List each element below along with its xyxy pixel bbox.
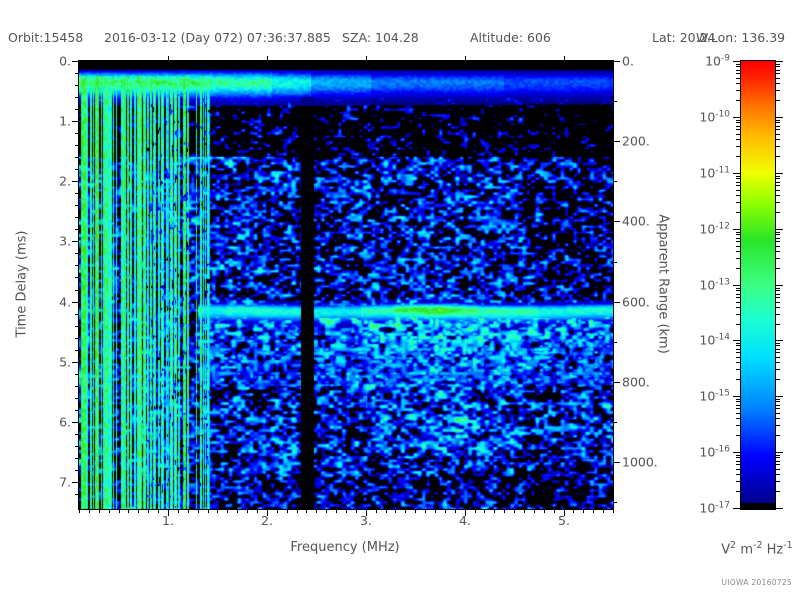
colorbar-tick-minor xyxy=(736,343,741,344)
colorbar-tick-minor xyxy=(775,491,780,492)
y-right-tick-minor xyxy=(613,181,617,182)
colorbar-tick-minor xyxy=(775,126,780,127)
y-right-tick-major xyxy=(613,141,620,142)
colorbar-tick-minor xyxy=(775,418,780,419)
x-tick-minor xyxy=(494,509,495,513)
y-axis-right-title: Apparent Range (km) xyxy=(656,214,671,354)
colorbar-tick-minor xyxy=(775,345,780,346)
x-tick-minor xyxy=(504,509,505,513)
colorbar-tick-minor xyxy=(736,139,741,140)
y-left-tick-label: 7. xyxy=(59,475,71,490)
colorbar-tick-minor xyxy=(736,78,741,79)
colorbar-tick-minor xyxy=(736,379,741,380)
colorbar-tick-minor xyxy=(775,343,780,344)
colorbar-tick-minor xyxy=(736,307,741,308)
colorbar-tick-minor xyxy=(775,401,780,402)
colorbar-tick-minor xyxy=(775,399,780,400)
colorbar-tick-minor xyxy=(775,134,780,135)
y-left-tick-label: 6. xyxy=(59,415,71,430)
y-left-tick-label: 1. xyxy=(59,114,71,129)
colorbar-tick-minor xyxy=(775,176,780,177)
colorbar-tick-major xyxy=(775,173,783,174)
colorbar-tick-minor xyxy=(736,469,741,470)
colorbar-tick-minor xyxy=(736,182,741,183)
y-left-tick-minor xyxy=(75,398,79,399)
x-tick-minor xyxy=(475,509,476,513)
y-left-tick-minor xyxy=(75,169,79,170)
y-right-tick-label: 1000. xyxy=(622,455,658,470)
x-tick-minor xyxy=(109,509,110,513)
y-left-tick-minor xyxy=(75,85,79,86)
colorbar-tick-minor xyxy=(775,288,780,289)
colorbar-tick-minor xyxy=(775,178,780,179)
colorbar-tick-minor xyxy=(736,290,741,291)
colorbar-tick-minor xyxy=(775,362,780,363)
y-left-tick-major xyxy=(72,181,79,182)
header-datetime: 2016-03-12 (Day 072) 07:36:37.885 xyxy=(104,30,331,45)
colorbar-tick-major xyxy=(775,229,783,230)
colorbar-tick-label: 10-12 xyxy=(699,221,730,236)
colorbar-tick-minor xyxy=(775,307,780,308)
colorbar-tick-minor xyxy=(736,190,741,191)
colorbar-tick-minor xyxy=(775,202,780,203)
colorbar-tick-minor xyxy=(736,435,741,436)
footer-credit: UIOWA 20160725 xyxy=(722,578,793,587)
colorbar-tick-minor xyxy=(736,251,741,252)
y-left-tick-minor xyxy=(75,193,79,194)
y-right-tick-label: 800. xyxy=(622,375,650,390)
colorbar-tick-minor xyxy=(775,90,780,91)
colorbar-tick-minor xyxy=(736,314,741,315)
colorbar-tick-minor xyxy=(736,457,741,458)
x-tick-minor xyxy=(208,509,209,513)
colorbar-gradient xyxy=(741,61,775,509)
x-tick-minor xyxy=(79,509,80,513)
x-tick-top xyxy=(465,56,466,61)
colorbar: 10-910-1010-1110-1210-1310-1410-1510-161… xyxy=(740,60,776,510)
x-tick-minor xyxy=(395,509,396,513)
y-left-tick-major xyxy=(72,121,79,122)
colorbar-tick-minor xyxy=(775,435,780,436)
y-left-tick-minor xyxy=(75,458,79,459)
x-tick-minor xyxy=(544,509,545,513)
colorbar-tick-minor xyxy=(775,461,780,462)
colorbar-tick-minor xyxy=(775,78,780,79)
colorbar-tick-minor xyxy=(736,120,741,121)
y-right-tick-major xyxy=(613,302,620,303)
y-left-tick-minor xyxy=(75,290,79,291)
y-left-tick-major xyxy=(72,61,79,62)
colorbar-tick-minor xyxy=(736,195,741,196)
x-tick-minor xyxy=(128,509,129,513)
colorbar-tick-minor xyxy=(775,302,780,303)
colorbar-tick-minor xyxy=(736,202,741,203)
colorbar-tick-minor xyxy=(775,455,780,456)
x-tick-minor xyxy=(534,509,535,513)
y-left-tick-minor xyxy=(75,494,79,495)
x-tick-minor xyxy=(455,509,456,513)
colorbar-tick-minor xyxy=(775,195,780,196)
y-left-tick-major xyxy=(72,362,79,363)
colorbar-tick-minor xyxy=(736,178,741,179)
colorbar-tick-minor xyxy=(736,408,741,409)
colorbar-tick-minor xyxy=(736,73,741,74)
colorbar-tick-minor xyxy=(736,129,741,130)
y-left-tick-label: 3. xyxy=(59,234,71,249)
x-tick-minor xyxy=(138,509,139,513)
colorbar-tick-minor xyxy=(775,349,780,350)
x-tick-minor xyxy=(524,509,525,513)
x-tick-minor xyxy=(148,509,149,513)
colorbar-tick-minor xyxy=(736,302,741,303)
colorbar-tick-minor xyxy=(775,294,780,295)
colorbar-tick-minor xyxy=(736,369,741,370)
colorbar-tick-label: 10-9 xyxy=(705,53,730,68)
colorbar-tick-minor xyxy=(736,349,741,350)
colorbar-tick-minor xyxy=(736,246,741,247)
colorbar-tick-minor xyxy=(775,379,780,380)
colorbar-tick-minor xyxy=(775,64,780,65)
colorbar-tick-label: 10-11 xyxy=(699,165,730,180)
y-right-tick-minor xyxy=(613,101,617,102)
colorbar-tick-minor xyxy=(775,481,780,482)
x-tick-minor xyxy=(198,509,199,513)
colorbar-tick-minor xyxy=(775,120,780,121)
header-altitude: Altitude: 606 xyxy=(470,30,551,45)
y-right-tick-minor xyxy=(613,342,617,343)
colorbar-tick-minor xyxy=(736,362,741,363)
colorbar-tick-minor xyxy=(775,469,780,470)
colorbar-tick-minor xyxy=(736,238,741,239)
x-tick-minor xyxy=(573,509,574,513)
colorbar-tick-minor xyxy=(736,234,741,235)
y-right-tick-major xyxy=(613,382,620,383)
x-tick-minor xyxy=(386,509,387,513)
x-tick-top xyxy=(564,56,565,61)
y-left-tick-major xyxy=(72,422,79,423)
colorbar-tick-major xyxy=(733,229,741,230)
colorbar-tick-minor xyxy=(736,425,741,426)
y-left-tick-label: 2. xyxy=(59,174,71,189)
x-tick-minor xyxy=(99,509,100,513)
colorbar-tick-minor xyxy=(775,290,780,291)
y-left-tick-minor xyxy=(75,374,79,375)
colorbar-tick-major xyxy=(775,285,783,286)
colorbar-tick-minor xyxy=(736,232,741,233)
colorbar-tick-minor xyxy=(736,288,741,289)
header-west-longitude: W.Lon: 136.39 xyxy=(696,30,785,45)
x-tick-label: 3. xyxy=(360,513,372,528)
colorbar-tick-major xyxy=(733,340,741,341)
colorbar-tick-minor xyxy=(736,241,741,242)
colorbar-unit-label: V2 m-2 Hz-1 xyxy=(721,540,792,557)
x-tick-minor xyxy=(178,509,179,513)
colorbar-tick-minor xyxy=(736,418,741,419)
colorbar-tick-minor xyxy=(736,146,741,147)
colorbar-tick-minor xyxy=(775,405,780,406)
x-tick-top xyxy=(267,56,268,61)
colorbar-tick-minor xyxy=(775,457,780,458)
header-sza: SZA: 104.28 xyxy=(342,30,419,45)
y-left-tick-minor xyxy=(75,229,79,230)
y-axis-left-title: Time Delay (ms) xyxy=(15,231,30,338)
x-tick-minor xyxy=(554,509,555,513)
colorbar-tick-minor xyxy=(736,324,741,325)
y-left-tick-minor xyxy=(75,145,79,146)
colorbar-tick-minor xyxy=(775,100,780,101)
colorbar-tick-label: 10-14 xyxy=(699,332,730,347)
colorbar-tick-minor xyxy=(775,474,780,475)
colorbar-tick-minor xyxy=(736,491,741,492)
colorbar-tick-minor xyxy=(775,314,780,315)
x-tick-minor xyxy=(593,509,594,513)
x-tick-minor xyxy=(346,509,347,513)
x-tick-minor xyxy=(376,509,377,513)
x-tick-minor xyxy=(613,509,614,513)
y-left-tick-minor xyxy=(75,97,79,98)
x-tick-minor xyxy=(257,509,258,513)
y-left-tick-minor xyxy=(75,386,79,387)
colorbar-tick-minor xyxy=(775,425,780,426)
x-tick-minor xyxy=(217,509,218,513)
colorbar-tick-minor xyxy=(775,70,780,71)
y-left-tick-minor xyxy=(75,470,79,471)
colorbar-tick-major xyxy=(733,452,741,453)
x-tick-minor xyxy=(514,509,515,513)
colorbar-tick-major xyxy=(775,452,783,453)
x-tick-minor xyxy=(316,509,317,513)
colorbar-tick-minor xyxy=(736,126,741,127)
x-tick-minor xyxy=(158,509,159,513)
colorbar-tick-minor xyxy=(736,100,741,101)
y-left-tick-minor xyxy=(75,326,79,327)
colorbar-tick-minor xyxy=(775,297,780,298)
colorbar-tick-label: 10-10 xyxy=(699,109,730,124)
y-left-tick-minor xyxy=(75,109,79,110)
colorbar-tick-minor xyxy=(775,369,780,370)
ionogram-page: Orbit:15458 2016-03-12 (Day 072) 07:36:3… xyxy=(0,0,800,600)
colorbar-tick-minor xyxy=(775,464,780,465)
y-right-tick-major xyxy=(613,61,620,62)
colorbar-tick-minor xyxy=(775,190,780,191)
colorbar-tick-minor xyxy=(775,185,780,186)
colorbar-tick-minor xyxy=(775,129,780,130)
colorbar-tick-minor xyxy=(736,134,741,135)
colorbar-tick-minor xyxy=(736,268,741,269)
y-right-tick-minor xyxy=(613,502,617,503)
x-tick-minor xyxy=(445,509,446,513)
x-tick-minor xyxy=(435,509,436,513)
colorbar-tick-minor xyxy=(736,70,741,71)
x-tick-minor xyxy=(89,509,90,513)
colorbar-tick-label: 10-16 xyxy=(699,444,730,459)
colorbar-tick-minor xyxy=(736,297,741,298)
y-right-tick-major xyxy=(613,221,620,222)
x-tick-label: 4. xyxy=(459,513,471,528)
x-tick-minor xyxy=(247,509,248,513)
x-tick-top xyxy=(366,56,367,61)
colorbar-tick-minor xyxy=(775,83,780,84)
colorbar-tick-label: 10-15 xyxy=(699,388,730,403)
y-left-tick-minor xyxy=(75,314,79,315)
colorbar-tick-minor xyxy=(775,238,780,239)
x-tick-minor xyxy=(326,509,327,513)
y-left-tick-minor xyxy=(75,253,79,254)
x-axis-title: Frequency (MHz) xyxy=(290,540,399,555)
x-tick-minor xyxy=(405,509,406,513)
colorbar-tick-minor xyxy=(736,294,741,295)
colorbar-tick-minor xyxy=(775,324,780,325)
colorbar-tick-major xyxy=(775,340,783,341)
x-tick-label: 2. xyxy=(261,513,273,528)
colorbar-tick-minor xyxy=(775,139,780,140)
y-right-tick-label: 400. xyxy=(622,214,650,229)
x-tick-minor xyxy=(297,509,298,513)
colorbar-tick-minor xyxy=(736,405,741,406)
colorbar-tick-major xyxy=(733,61,741,62)
colorbar-tick-minor xyxy=(736,461,741,462)
x-tick-minor xyxy=(119,509,120,513)
colorbar-tick-minor xyxy=(775,146,780,147)
y-right-tick-major xyxy=(613,462,620,463)
y-left-tick-major xyxy=(72,302,79,303)
colorbar-tick-minor xyxy=(775,352,780,353)
colorbar-tick-minor xyxy=(736,399,741,400)
x-tick-minor xyxy=(336,509,337,513)
spectrogram-canvas xyxy=(79,61,613,509)
y-left-tick-minor xyxy=(75,410,79,411)
colorbar-tick-minor xyxy=(736,474,741,475)
colorbar-tick-minor xyxy=(736,455,741,456)
colorbar-tick-minor xyxy=(775,232,780,233)
colorbar-tick-minor xyxy=(736,83,741,84)
colorbar-tick-minor xyxy=(775,258,780,259)
colorbar-tick-minor xyxy=(775,66,780,67)
colorbar-tick-minor xyxy=(736,481,741,482)
colorbar-tick-major xyxy=(775,61,783,62)
colorbar-tick-major xyxy=(733,285,741,286)
x-tick-minor xyxy=(583,509,584,513)
colorbar-tick-label: 10-17 xyxy=(699,500,730,515)
x-tick-label: 1. xyxy=(162,513,174,528)
colorbar-tick-minor xyxy=(775,241,780,242)
colorbar-tick-minor xyxy=(775,234,780,235)
colorbar-tick-major xyxy=(733,173,741,174)
colorbar-tick-minor xyxy=(736,185,741,186)
colorbar-tick-major xyxy=(733,396,741,397)
y-left-tick-minor xyxy=(75,133,79,134)
colorbar-tick-minor xyxy=(736,352,741,353)
colorbar-tick-major xyxy=(733,117,741,118)
x-tick-minor xyxy=(287,509,288,513)
colorbar-tick-minor xyxy=(736,122,741,123)
y-left-tick-minor xyxy=(75,277,79,278)
x-tick-minor xyxy=(306,509,307,513)
y-left-tick-minor xyxy=(75,205,79,206)
colorbar-tick-major xyxy=(775,117,783,118)
colorbar-tick-minor xyxy=(736,357,741,358)
colorbar-tick-minor xyxy=(736,156,741,157)
x-tick-minor xyxy=(277,509,278,513)
colorbar-tick-minor xyxy=(775,251,780,252)
y-left-tick-major xyxy=(72,482,79,483)
colorbar-tick-major xyxy=(733,508,741,509)
y-left-tick-minor xyxy=(75,350,79,351)
y-left-tick-label: 4. xyxy=(59,295,71,310)
colorbar-tick-minor xyxy=(736,64,741,65)
colorbar-tick-minor xyxy=(736,212,741,213)
colorbar-tick-minor xyxy=(736,66,741,67)
y-left-tick-minor xyxy=(75,265,79,266)
colorbar-tick-minor xyxy=(736,90,741,91)
colorbar-tick-minor xyxy=(736,464,741,465)
colorbar-tick-minor xyxy=(736,258,741,259)
y-left-tick-minor xyxy=(75,446,79,447)
colorbar-tick-major xyxy=(775,396,783,397)
y-left-tick-minor xyxy=(75,73,79,74)
colorbar-tick-minor xyxy=(736,413,741,414)
x-tick-minor xyxy=(603,509,604,513)
colorbar-tick-minor xyxy=(736,345,741,346)
x-tick-minor xyxy=(188,509,189,513)
y-left-tick-minor xyxy=(75,217,79,218)
x-tick-minor xyxy=(415,509,416,513)
x-tick-top xyxy=(168,56,169,61)
colorbar-tick-minor xyxy=(775,73,780,74)
x-tick-minor xyxy=(356,509,357,513)
x-tick-minor xyxy=(484,509,485,513)
header-orbit: Orbit:15458 xyxy=(8,30,83,45)
y-left-tick-minor xyxy=(75,157,79,158)
colorbar-tick-minor xyxy=(775,156,780,157)
y-right-tick-label: 200. xyxy=(622,134,650,149)
colorbar-tick-minor xyxy=(736,176,741,177)
colorbar-tick-minor xyxy=(775,182,780,183)
y-right-tick-label: 0. xyxy=(622,54,634,69)
colorbar-tick-minor xyxy=(775,357,780,358)
x-tick-minor xyxy=(227,509,228,513)
header-metadata: Orbit:15458 2016-03-12 (Day 072) 07:36:3… xyxy=(0,30,800,48)
colorbar-tick-minor xyxy=(775,212,780,213)
y-left-tick-minor xyxy=(75,338,79,339)
y-right-tick-label: 600. xyxy=(622,295,650,310)
colorbar-tick-minor xyxy=(736,401,741,402)
colorbar-tick-minor xyxy=(775,408,780,409)
y-right-tick-minor xyxy=(613,262,617,263)
colorbar-tick-minor xyxy=(775,122,780,123)
x-tick-minor xyxy=(425,509,426,513)
ionogram-plot-area: 0.1.2.3.4.5.6.7. 0.200.400.600.800.1000.… xyxy=(78,60,614,510)
x-tick-minor xyxy=(237,509,238,513)
colorbar-tick-minor xyxy=(775,246,780,247)
colorbar-tick-minor xyxy=(775,413,780,414)
y-right-tick-minor xyxy=(613,422,617,423)
y-left-tick-label: 0. xyxy=(59,54,71,69)
y-left-tick-minor xyxy=(75,434,79,435)
y-left-tick-label: 5. xyxy=(59,355,71,370)
colorbar-tick-label: 10-13 xyxy=(699,277,730,292)
x-tick-label: 5. xyxy=(558,513,570,528)
y-left-tick-major xyxy=(72,241,79,242)
colorbar-tick-major xyxy=(775,508,783,509)
colorbar-tick-minor xyxy=(775,268,780,269)
